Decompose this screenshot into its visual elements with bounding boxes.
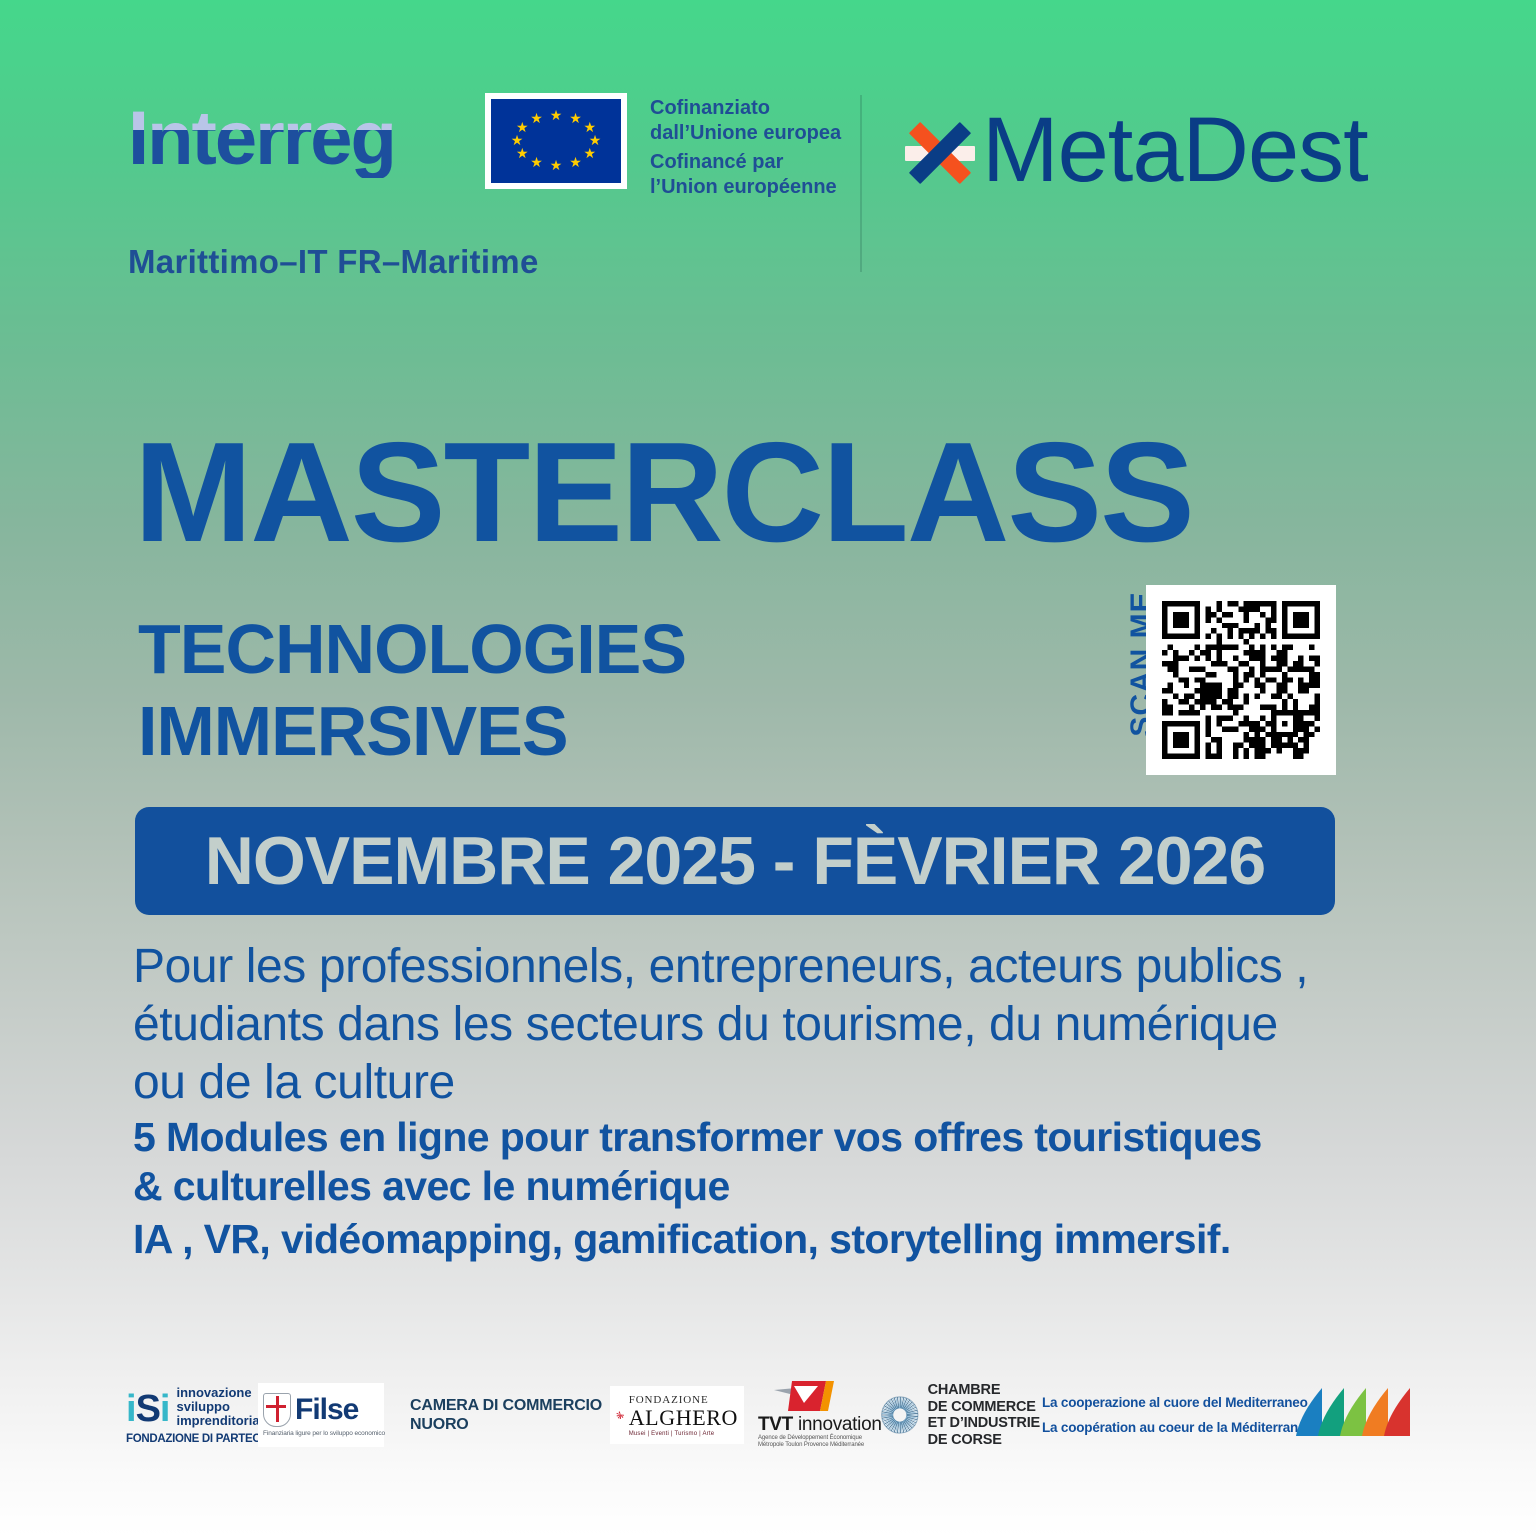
page-subtitle: TECHNOLOGIES IMMERSIVES xyxy=(138,608,686,772)
tvt-name-light: innovation xyxy=(798,1414,882,1435)
alghero-fondazione-label: FONDAZIONE xyxy=(629,1394,738,1406)
interreg-logo: Interreg Interreg xyxy=(128,100,448,178)
sail-shape xyxy=(1296,1388,1322,1436)
filse-card: Filse Finanziaria ligure per lo sviluppo… xyxy=(258,1383,384,1447)
fan-ray xyxy=(900,1422,901,1434)
eu-star-icon: ★ xyxy=(550,109,563,122)
interreg-wordmark-upper: Interreg xyxy=(128,100,448,130)
sails-svg xyxy=(1292,1384,1414,1446)
eu-cofinance-french: Cofinancé par l’Union européenne xyxy=(650,150,837,200)
cci-corse-line2: DE COMMERCE xyxy=(928,1399,1040,1416)
isi-letter-i1: i xyxy=(126,1388,136,1430)
isi-letter-s: S xyxy=(136,1388,160,1430)
tagline-french: La coopération au coeur de la Méditerran… xyxy=(1042,1415,1313,1440)
cci-corse-fan-icon xyxy=(880,1389,920,1441)
eu-cofinance-italian: Cofinanziato dall’Unione europea xyxy=(650,96,841,146)
metadest-x-icon xyxy=(900,112,978,190)
audience-line3: ou de la culture xyxy=(133,1054,1433,1112)
eu-star-icon: ★ xyxy=(516,147,529,160)
isi-descriptor-line1: innovazione xyxy=(176,1386,270,1400)
interreg-programme-label: Marittimo–IT FR–Maritime xyxy=(128,243,539,281)
eu-star-icon: ★ xyxy=(516,121,529,134)
partner-logo-fondazione-alghero: FONDAZIONE ALGHERO Musei | Eventi | Turi… xyxy=(610,1360,750,1470)
programme-tagline: La cooperazione al cuore del Mediterrane… xyxy=(1042,1360,1282,1470)
page-subtitle-line1: TECHNOLOGIES xyxy=(138,608,686,690)
poster-header: Interreg Interreg Marittimo–IT FR–Mariti… xyxy=(0,0,1536,300)
partner-logo-tvt-innovation: TVT innovation Agence de Développement É… xyxy=(758,1360,883,1470)
shield-cross-vertical xyxy=(276,1396,279,1422)
qr-block[interactable]: SCAN ME xyxy=(1088,585,1338,775)
interreg-wordmark-text-upper: Interreg xyxy=(128,100,395,130)
cci-corse-line3: ET D’INDUSTRIE xyxy=(928,1415,1040,1432)
partner-logo-cci-corse: CHAMBRE DE COMMERCE ET D’INDUSTRIE DE CO… xyxy=(880,1360,1040,1470)
eu-cofinance-fr-line1: Cofinancé par xyxy=(650,150,837,175)
eu-star-icon: ★ xyxy=(530,112,543,125)
metadest-wordmark: MetaDest xyxy=(982,98,1368,203)
date-banner: NOVEMBRE 2025 - FÈVRIER 2026 xyxy=(135,807,1335,915)
fan-ray xyxy=(899,1397,900,1409)
camera-commercio-line2: NUORO xyxy=(410,1415,602,1434)
alghero-subtitle: Musei | Eventi | Turismo | Arte xyxy=(629,1431,738,1437)
header-divider xyxy=(860,95,862,272)
page-title: MASTERCLASS xyxy=(134,418,1193,568)
cci-corse-line1: CHAMBRE xyxy=(928,1382,1040,1399)
eu-cofinance-it-line1: Cofinanziato xyxy=(650,96,841,121)
audience-line1: Pour les professionnels, entrepreneurs, … xyxy=(133,938,1433,996)
eu-cofinance-it-line2: dall’Unione europea xyxy=(650,121,841,146)
tvt-tagline-line1: Agence de Développement Économique xyxy=(758,1435,862,1443)
modules-line1: 5 Modules en ligne pour transformer vos … xyxy=(133,1113,1453,1162)
fan-ray xyxy=(899,1422,900,1434)
audience-line2: étudiants dans les secteurs du tourisme,… xyxy=(133,996,1433,1054)
marittimo-sails-icon xyxy=(1292,1360,1422,1470)
partner-logo-filse: Filse Finanziaria ligure per lo sviluppo… xyxy=(258,1360,390,1470)
page-subtitle-line2: IMMERSIVES xyxy=(138,690,686,772)
eu-flag-icon: ★★★★★★★★★★★★ xyxy=(485,93,627,189)
date-banner-text: NOVEMBRE 2025 - FÈVRIER 2026 xyxy=(205,822,1265,900)
isi-monogram-icon: iSi xyxy=(126,1390,169,1428)
eu-star-icon: ★ xyxy=(511,134,524,147)
technologies-paragraph: IA , VR, vidéomapping, gamification, sto… xyxy=(133,1215,1453,1264)
filse-wordmark: Filse xyxy=(295,1395,358,1425)
audience-paragraph: Pour les professionnels, entrepreneurs, … xyxy=(133,938,1433,1112)
filse-tagline: Finanziaria ligure per lo sviluppo econo… xyxy=(263,1430,379,1437)
qr-card[interactable] xyxy=(1146,585,1336,775)
liguria-shield-icon xyxy=(263,1393,291,1427)
qr-code-icon[interactable] xyxy=(1162,601,1320,759)
eu-star-icon: ★ xyxy=(583,147,596,160)
isi-descriptor-line3: imprenditoriale xyxy=(176,1414,270,1428)
cci-corse-label: CHAMBRE DE COMMERCE ET D’INDUSTRIE DE CO… xyxy=(928,1382,1040,1448)
eu-star-icon: ★ xyxy=(530,156,543,169)
alghero-burst-icon xyxy=(616,1395,625,1435)
isi-letter-i2: i xyxy=(160,1388,170,1430)
partner-logo-camera-commercio-nuoro: CAMERA DI COMMERCIO NUORO xyxy=(392,1360,602,1470)
camera-commercio-label: CAMERA DI COMMERCIO NUORO xyxy=(410,1396,602,1434)
alghero-name-label: ALGHERO xyxy=(629,1406,738,1429)
fan-ray xyxy=(900,1397,901,1409)
modules-line2: & culturelles avec le numérique xyxy=(133,1162,1453,1211)
tvt-name-bold: TVT xyxy=(758,1414,793,1435)
eu-star-icon: ★ xyxy=(569,156,582,169)
camera-commercio-line1: CAMERA DI COMMERCIO xyxy=(410,1396,602,1415)
partner-logo-strip: iSi innovazione sviluppo imprenditoriale… xyxy=(0,1360,1536,1490)
filse-row: Filse xyxy=(263,1393,379,1427)
isi-descriptor-line2: sviluppo xyxy=(176,1400,270,1414)
shield-cross-horizontal xyxy=(266,1405,286,1408)
cci-corse-line4: DE CORSE xyxy=(928,1432,1040,1449)
eu-flag-field: ★★★★★★★★★★★★ xyxy=(491,99,621,183)
alghero-card: FONDAZIONE ALGHERO Musei | Eventi | Turi… xyxy=(610,1386,744,1444)
eu-cofinance-fr-line2: l’Union européenne xyxy=(650,175,837,200)
tvt-wordmark: TVT innovation xyxy=(758,1415,882,1435)
isi-descriptor: innovazione sviluppo imprenditoriale xyxy=(176,1386,270,1428)
eu-star-icon: ★ xyxy=(550,159,563,172)
tagline-italian: La cooperazione al cuore del Mediterrane… xyxy=(1042,1390,1313,1415)
tvt-chevron-icon xyxy=(774,1381,836,1415)
modules-paragraph: 5 Modules en ligne pour transformer vos … xyxy=(133,1113,1453,1211)
poster-canvas: Interreg Interreg Marittimo–IT FR–Mariti… xyxy=(0,0,1536,1536)
tvt-tagline-line2: Métropole Toulon Provence Méditerranée xyxy=(758,1442,864,1450)
eu-star-icon: ★ xyxy=(569,112,582,125)
